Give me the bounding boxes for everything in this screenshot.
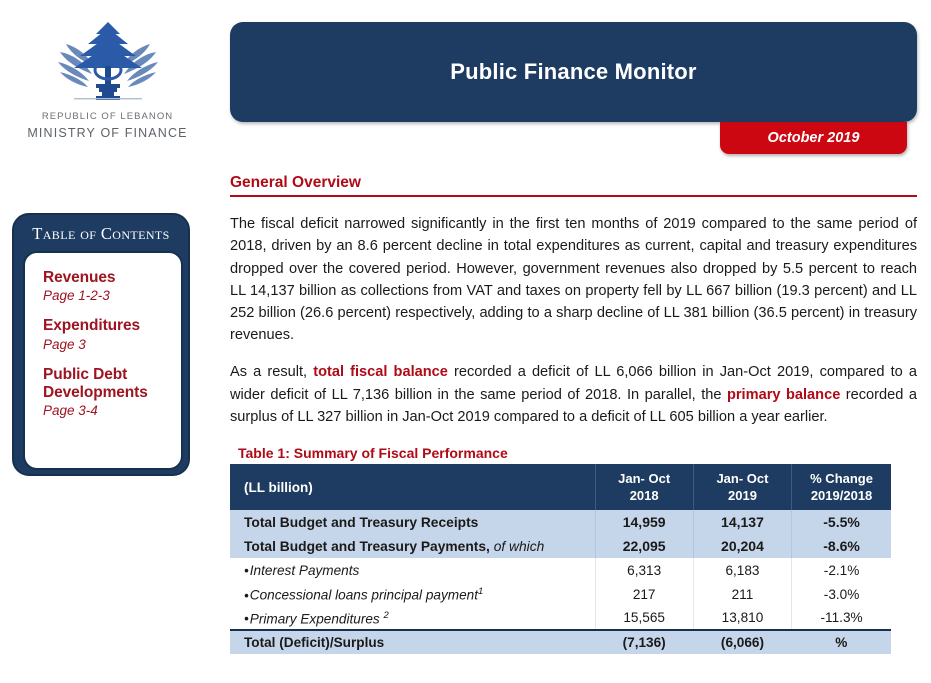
row-label: Total Budget and Treasury Receipts [230,510,595,534]
row-value-change: -11.3% [792,606,891,630]
table-row: •Primary Expenditures 2 15,565 13,810 -1… [230,606,891,630]
table-header-jan-oct-2019: Jan- Oct 2019 [693,464,791,510]
toc-item-expenditures[interactable]: Expenditures Page 3 [43,317,181,351]
toc-item-page: Page 3-4 [43,403,181,418]
toc-item-page: Page 3 [43,337,181,352]
main-content-column: Public Finance Monitor October 2019 Gene… [230,0,931,683]
row-label: •Concessional loans principal payment1 [230,582,595,606]
fiscal-performance-table: (LL billion) Jan- Oct 2018 Jan- Oct 2019… [230,464,891,654]
bullet-icon: • [244,563,249,578]
row-value-2018: (7,136) [595,630,693,654]
page-title: Public Finance Monitor [450,59,696,85]
row-value-2019: 211 [693,582,791,606]
overview-paragraph-2: As a result, total fiscal balance record… [230,361,917,428]
table-row: Total Budget and Treasury Payments, of w… [230,534,891,558]
row-label: •Primary Expenditures 2 [230,606,595,630]
table-header-jan-oct-2018: Jan- Oct 2018 [595,464,693,510]
toc-item-revenues[interactable]: Revenues Page 1-2-3 [43,269,181,303]
paragraph2-part-a: As a result, [230,364,313,380]
section-heading-label: General Overview [230,174,917,192]
row-value-change: -8.6% [792,534,891,558]
row-label-text: Interest Payments [250,563,360,578]
table-of-contents: Table of Contents Revenues Page 1-2-3 Ex… [12,213,190,476]
table-header-line1: Jan- Oct [694,470,791,487]
row-value-2018: 217 [595,582,693,606]
highlight-primary-balance: primary balance [727,387,840,403]
report-date-badge: October 2019 [720,122,907,154]
row-label: •Interest Payments [230,558,595,582]
row-label-qualifier: of which [490,539,544,554]
row-label-text: Total (Deficit)/Surplus [244,635,384,650]
table-header-line1: % Change [792,470,891,487]
toc-item-page: Page 1-2-3 [43,288,181,303]
table-header-line1: Jan- Oct [596,470,693,487]
row-value-2019: 13,810 [693,606,791,630]
table-header-line2: 2019/2018 [792,487,891,504]
logo-republic-label: REPUBLIC OF LEBANON [0,111,215,122]
row-value-2019: 6,183 [693,558,791,582]
table-header-line2: 2019 [694,487,791,504]
toc-item-public-debt-developments[interactable]: Public Debt Developments Page 3-4 [43,366,181,419]
toc-item-heading: Expenditures [43,317,181,335]
row-label-text: Total Budget and Treasury Receipts [244,515,478,530]
report-date-label: October 2019 [768,130,860,146]
row-label-text: Concessional loans principal payment [250,588,478,603]
lebanon-cedar-emblem-icon [52,18,164,106]
bullet-icon: • [244,611,249,626]
row-value-change: -3.0% [792,582,891,606]
table-row: •Concessional loans principal payment1 2… [230,582,891,606]
table-of-contents-panel: Revenues Page 1-2-3 Expenditures Page 3 … [23,251,183,470]
row-label-text: Primary Expenditures [250,611,384,626]
ministry-logo-block: REPUBLIC OF LEBANON MINISTRY OF FINANCE [0,18,215,140]
table-row: Total Budget and Treasury Receipts 14,95… [230,510,891,534]
table-header-line2: 2018 [596,487,693,504]
left-sidebar-column: REPUBLIC OF LEBANON MINISTRY OF FINANCE … [0,0,215,683]
row-value-change: -5.5% [792,510,891,534]
toc-item-heading: Public Debt Developments [43,366,181,403]
row-value-2019: 20,204 [693,534,791,558]
toc-item-heading: Revenues [43,269,181,287]
row-value-change: -2.1% [792,558,891,582]
table-caption: Table 1: Summary of Fiscal Performance [238,445,931,461]
bullet-icon: • [244,588,249,603]
report-title-banner: Public Finance Monitor [230,22,917,122]
table-row: •Interest Payments 6,313 6,183 -2.1% [230,558,891,582]
logo-ministry-label: MINISTRY OF FINANCE [0,126,215,140]
table-header-row: (LL billion) Jan- Oct 2018 Jan- Oct 2019… [230,464,891,510]
table-header-unit-label: (LL billion) [230,464,595,510]
row-label-text: Total Budget and Treasury Payments, [244,539,490,554]
row-value-2019: 14,137 [693,510,791,534]
row-label: Total Budget and Treasury Payments, of w… [230,534,595,558]
section-heading-general-overview: General Overview [230,174,917,197]
overview-paragraph-1: The fiscal deficit narrowed significantl… [230,213,917,347]
footnote-marker: 1 [478,586,483,597]
row-value-2018: 6,313 [595,558,693,582]
table-of-contents-title: Table of Contents [14,215,188,252]
highlight-total-fiscal-balance: total fiscal balance [313,364,448,380]
row-value-2018: 22,095 [595,534,693,558]
row-label: Total (Deficit)/Surplus [230,630,595,654]
footnote-marker: 2 [384,610,389,621]
row-value-2018: 15,565 [595,606,693,630]
table-header-pct-change: % Change 2019/2018 [792,464,891,510]
report-header: Public Finance Monitor October 2019 [230,0,931,155]
row-value-2018: 14,959 [595,510,693,534]
section-divider [230,195,917,197]
row-value-2019: (6,066) [693,630,791,654]
row-value-change: % [792,630,891,654]
table-row: Total (Deficit)/Surplus (7,136) (6,066) … [230,630,891,654]
